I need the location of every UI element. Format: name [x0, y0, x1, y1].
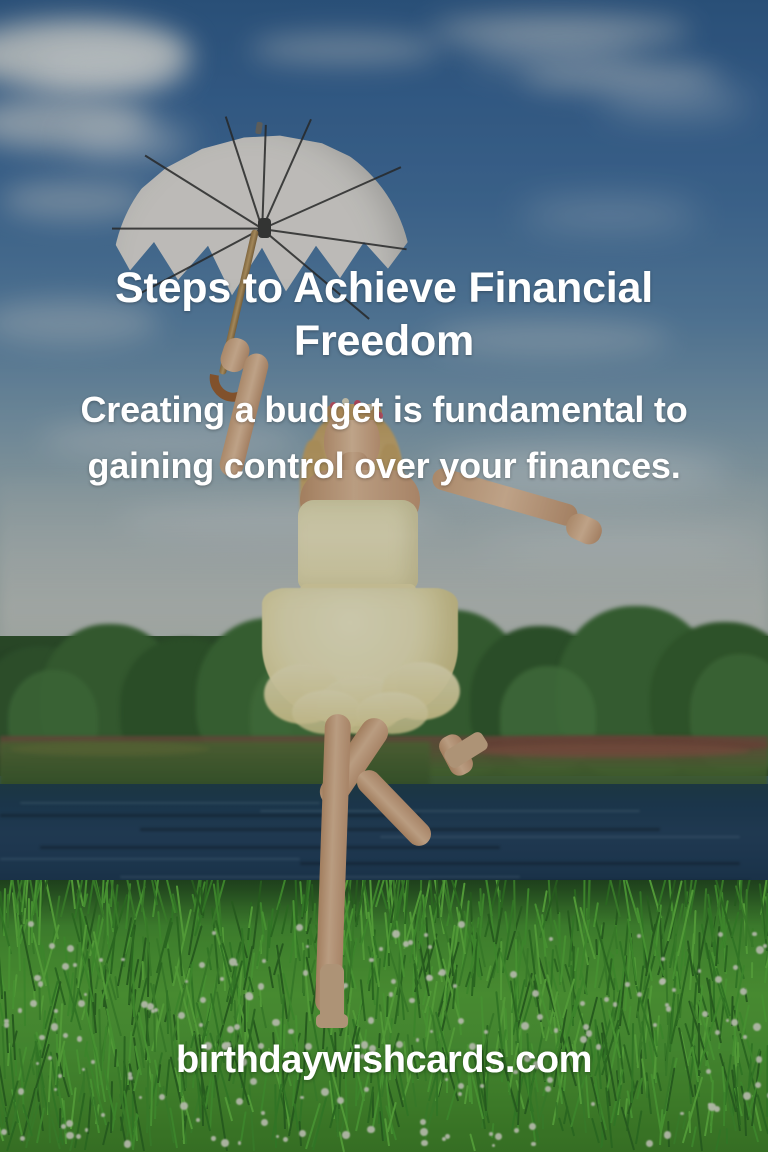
- social-quote-card: Steps to Achieve Financial Freedom Creat…: [0, 0, 768, 1152]
- page-title: Steps to Achieve Financial Freedom: [52, 262, 716, 368]
- page-subtitle: Creating a budget is fundamental to gain…: [52, 382, 716, 494]
- site-url[interactable]: birthdaywishcards.com: [52, 1036, 716, 1084]
- text-overlay: Steps to Achieve Financial Freedom Creat…: [0, 0, 768, 1152]
